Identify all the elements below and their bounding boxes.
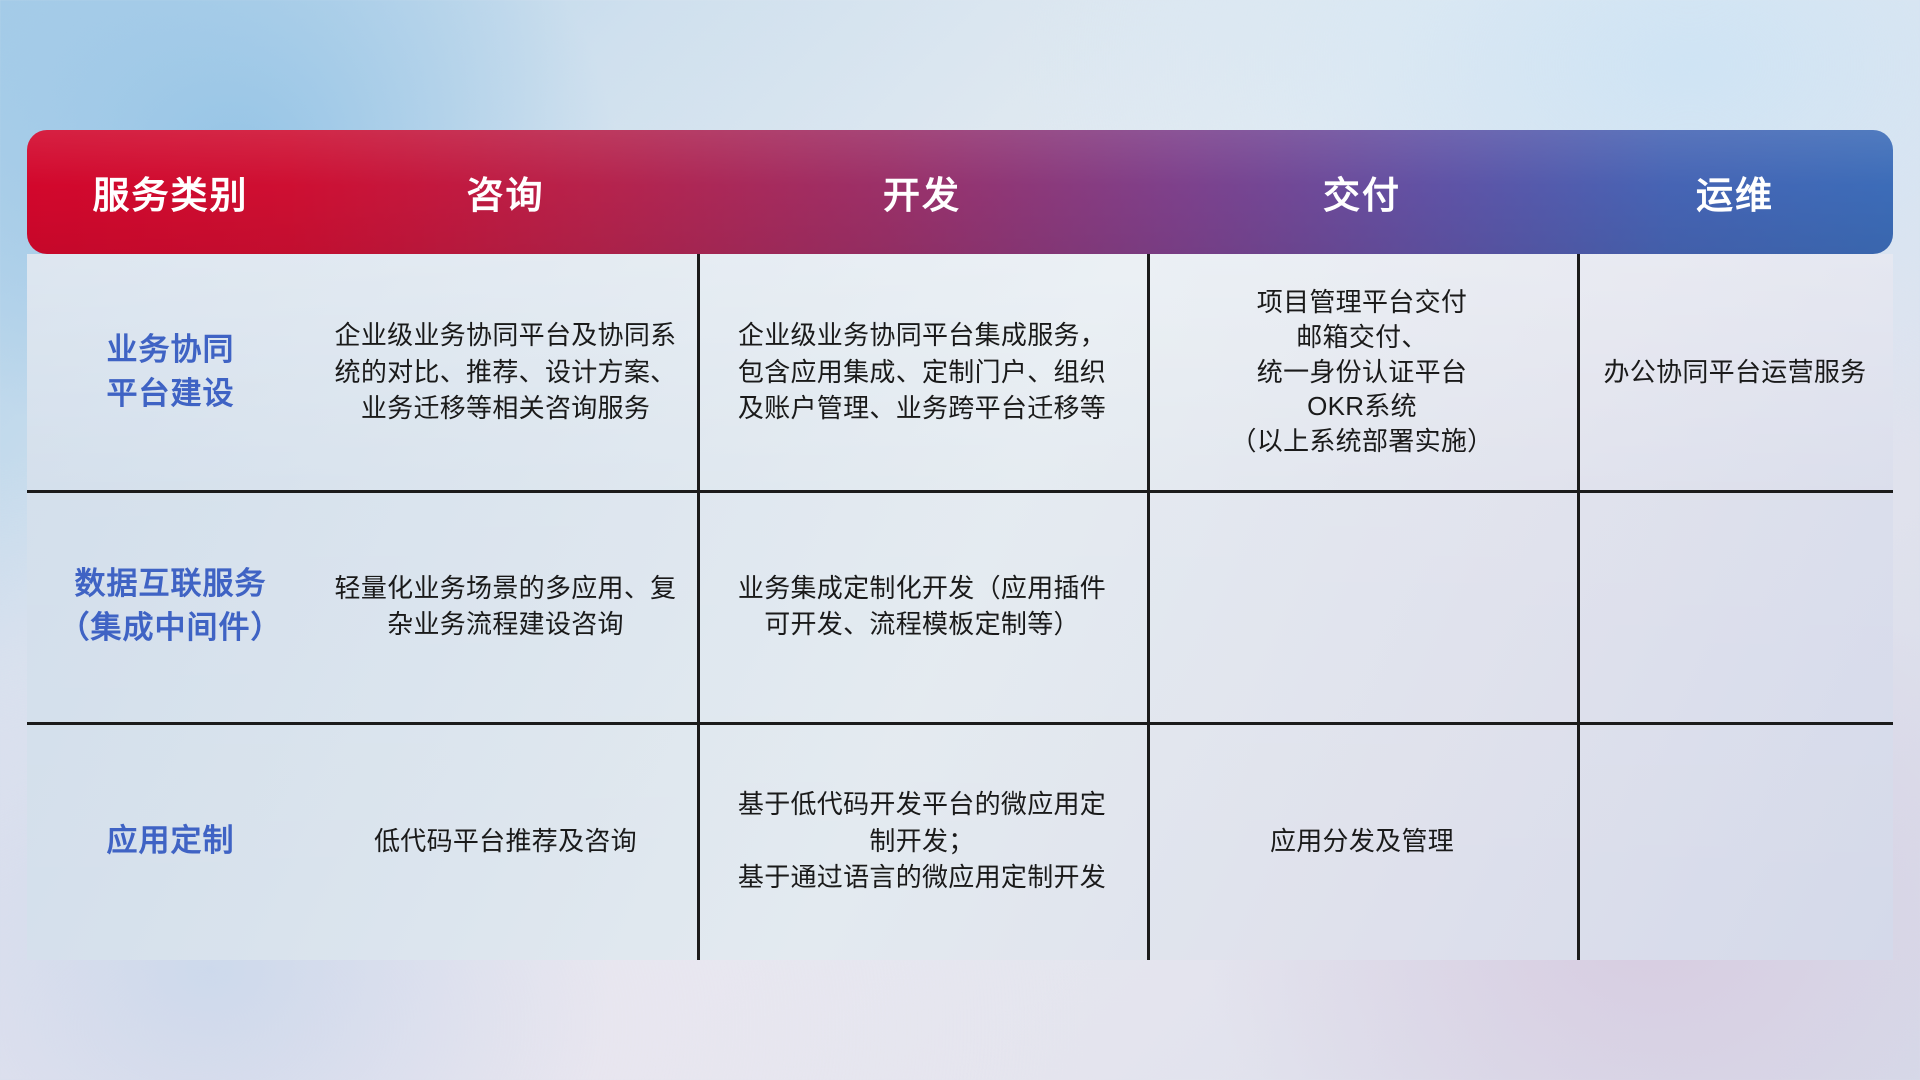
row-category-cell: 业务协同 平台建设	[27, 254, 314, 490]
operations-text: 办公协同平台运营服务	[1603, 354, 1866, 390]
table-body: 业务协同 平台建设 企业级业务协同平台及协同系 统的对比、推荐、设计方案、 业务…	[27, 254, 1893, 960]
category-label: 业务协同 平台建设	[107, 328, 235, 416]
consulting-text: 企业级业务协同平台及协同系 统的对比、推荐、设计方案、 业务迁移等相关咨询服务	[335, 317, 677, 426]
development-text: 业务集成定制化开发（应用插件 可开发、流程模板定制等）	[738, 570, 1106, 643]
header-cell-development: 开发	[697, 165, 1147, 219]
row-delivery-cell: 应用分发及管理	[1147, 722, 1577, 960]
consulting-text: 低代码平台推荐及咨询	[374, 823, 637, 859]
header-cell-consulting: 咨询	[314, 165, 697, 219]
category-label: 应用定制	[107, 819, 235, 863]
row-operations-cell	[1577, 490, 1893, 722]
delivery-text: 应用分发及管理	[1270, 823, 1454, 859]
row-operations-cell	[1577, 722, 1893, 960]
header-cell-service-category: 服务类别	[27, 165, 314, 219]
row-consulting-cell: 低代码平台推荐及咨询	[314, 722, 697, 960]
table-row: 业务协同 平台建设 企业级业务协同平台及协同系 统的对比、推荐、设计方案、 业务…	[27, 254, 1893, 490]
header-cell-operations: 运维	[1577, 165, 1893, 219]
row-consulting-cell: 轻量化业务场景的多应用、复 杂业务流程建设咨询	[314, 490, 697, 722]
consulting-text: 轻量化业务场景的多应用、复 杂业务流程建设咨询	[335, 570, 677, 643]
delivery-text: 项目管理平台交付 邮箱交付、 统一身份认证平台 OKR系统 （以上系统部署实施）	[1230, 285, 1493, 459]
row-category-cell: 数据互联服务 （集成中间件）	[27, 490, 314, 722]
development-text: 企业级业务协同平台集成服务， 包含应用集成、定制门户、组织 及账户管理、业务跨平…	[738, 317, 1106, 426]
development-text: 基于低代码开发平台的微应用定 制开发； 基于通过语言的微应用定制开发	[738, 786, 1106, 895]
table-row: 应用定制 低代码平台推荐及咨询 基于低代码开发平台的微应用定 制开发； 基于通过…	[27, 722, 1893, 960]
row-delivery-cell	[1147, 490, 1577, 722]
row-consulting-cell: 企业级业务协同平台及协同系 统的对比、推荐、设计方案、 业务迁移等相关咨询服务	[314, 254, 697, 490]
row-category-cell: 应用定制	[27, 722, 314, 960]
row-development-cell: 业务集成定制化开发（应用插件 可开发、流程模板定制等）	[697, 490, 1147, 722]
row-operations-cell: 办公协同平台运营服务	[1577, 254, 1893, 490]
table-row: 数据互联服务 （集成中间件） 轻量化业务场景的多应用、复 杂业务流程建设咨询 业…	[27, 490, 1893, 722]
row-development-cell: 企业级业务协同平台集成服务， 包含应用集成、定制门户、组织 及账户管理、业务跨平…	[697, 254, 1147, 490]
category-label: 数据互联服务 （集成中间件）	[59, 562, 283, 650]
row-delivery-cell: 项目管理平台交付 邮箱交付、 统一身份认证平台 OKR系统 （以上系统部署实施）	[1147, 254, 1577, 490]
table-header-row: 服务类别 咨询 开发 交付 运维	[27, 130, 1893, 254]
header-cell-delivery: 交付	[1147, 165, 1577, 219]
service-matrix-table: 服务类别 咨询 开发 交付 运维 业务协同 平台建设 企业级业务协同平台及协同系…	[27, 130, 1893, 960]
row-development-cell: 基于低代码开发平台的微应用定 制开发； 基于通过语言的微应用定制开发	[697, 722, 1147, 960]
